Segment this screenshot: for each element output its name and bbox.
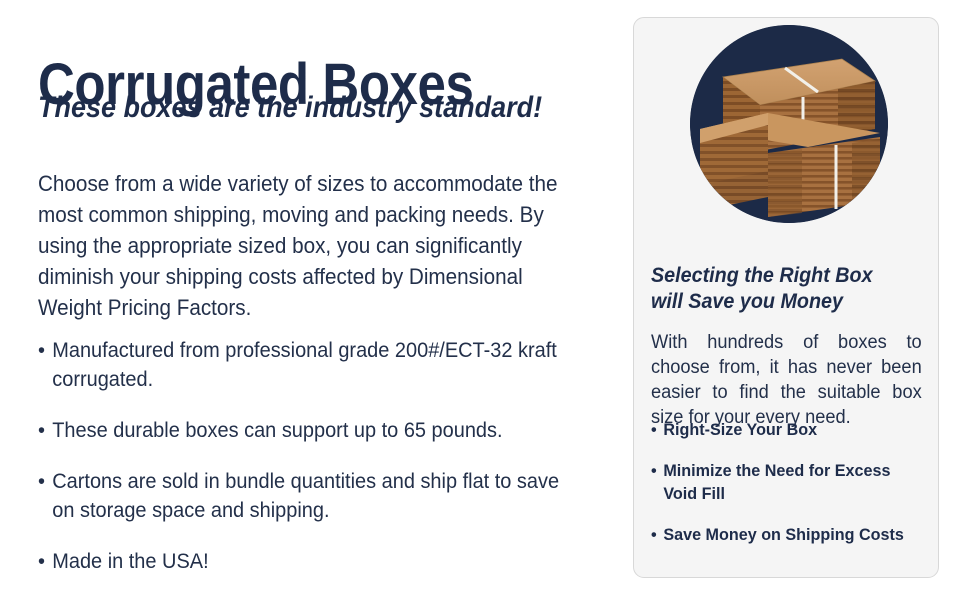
list-item: • Save Money on Shipping Costs <box>651 523 917 546</box>
card-photo-container <box>690 25 888 223</box>
list-item-label: Save Money on Shipping Costs <box>663 525 903 544</box>
list-item-label: Cartons are sold in bundle quantities an… <box>52 470 559 522</box>
bullet-dot-icon: • <box>38 547 45 576</box>
bullet-dot-icon: • <box>651 523 657 546</box>
bullet-dot-icon: • <box>651 418 657 441</box>
bullet-dot-icon: • <box>38 416 45 445</box>
list-item: • Right-Size Your Box <box>651 418 917 441</box>
list-item-label: Right-Size Your Box <box>663 420 817 439</box>
list-item-label: Made in the USA! <box>52 550 208 573</box>
side-card: Selecting the Right Box will Save you Mo… <box>633 17 939 578</box>
card-heading: Selecting the Right Box will Save you Mo… <box>651 263 910 315</box>
product-feature-list: • Manufactured from professional grade 2… <box>38 336 608 576</box>
bullet-dot-icon: • <box>38 467 45 496</box>
list-item: • Cartons are sold in bundle quantities … <box>38 467 580 525</box>
intro-paragraph: Choose from a wide variety of sizes to a… <box>38 168 570 323</box>
main-content-column: Corrugated Boxes These boxes are the ind… <box>0 0 620 600</box>
list-item: • These durable boxes can support up to … <box>38 416 580 445</box>
card-benefit-list: • Right-Size Your Box • Minimize the Nee… <box>651 418 931 546</box>
stacked-boxes-photo <box>690 25 888 223</box>
list-item-label: These durable boxes can support up to 65… <box>52 419 502 442</box>
page-subtitle: These boxes are the industry standard! <box>38 90 542 126</box>
list-item-label: Minimize the Need for Excess Void Fill <box>663 461 890 503</box>
list-item: • Minimize the Need for Excess Void Fill <box>651 459 917 505</box>
list-item: • Made in the USA! <box>38 547 580 576</box>
card-paragraph: With hundreds of boxes to choose from, i… <box>651 330 922 430</box>
list-item-label: Manufactured from professional grade 200… <box>52 339 557 391</box>
bullet-dot-icon: • <box>38 336 45 365</box>
list-item: • Manufactured from professional grade 2… <box>38 336 580 394</box>
bullet-dot-icon: • <box>651 459 657 482</box>
